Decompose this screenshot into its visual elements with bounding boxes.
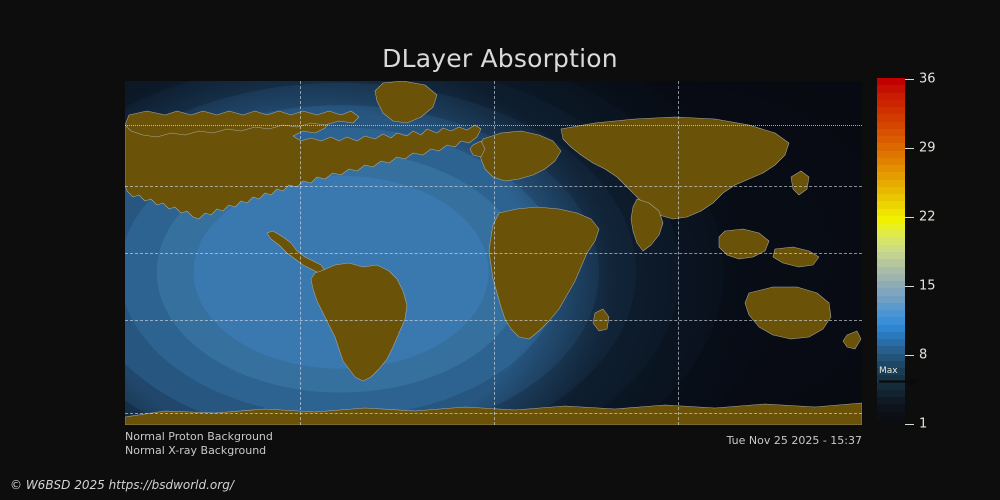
colorbar-segment — [877, 245, 905, 252]
colorbar-segment — [877, 361, 905, 368]
figure-root: DLayer Absorption — [0, 0, 1000, 500]
colorbar-segment — [877, 100, 905, 107]
colorbar-gradient — [877, 78, 905, 426]
colorbar-segment — [877, 201, 905, 208]
colorbar-segment — [877, 332, 905, 339]
page-title: DLayer Absorption — [0, 44, 1000, 73]
colorbar[interactable]: Max — [877, 78, 905, 426]
copyright-footer: © W6BSD 2025 https://bsdworld.org/ — [10, 478, 234, 492]
colorbar-segment — [877, 165, 905, 172]
colorbar-segment — [877, 267, 905, 274]
arctic-circle-line — [125, 125, 862, 126]
colorbar-segment — [877, 412, 905, 419]
colorbar-segment — [877, 209, 905, 216]
colorbar-segment — [877, 259, 905, 266]
colorbar-segment — [877, 354, 905, 361]
colorbar-segment — [877, 85, 905, 92]
colorbar-segment — [877, 281, 905, 288]
parallel-line — [125, 320, 862, 321]
colorbar-segment — [877, 325, 905, 332]
world-map[interactable] — [125, 81, 862, 425]
colorbar-segment — [877, 419, 905, 426]
colorbar-segment — [877, 296, 905, 303]
note-xray-background: Normal X-ray Background — [125, 444, 266, 457]
colorbar-axis-label: Affected Frequency (MHz) — [905, 78, 1000, 426]
colorbar-segment — [877, 194, 905, 201]
colorbar-segment — [877, 223, 905, 230]
colorbar-segment — [877, 368, 905, 375]
colorbar-segment — [877, 180, 905, 187]
colorbar-segment — [877, 129, 905, 136]
timestamp: Tue Nov 25 2025 - 15:37 — [727, 434, 862, 447]
parallel-line — [125, 413, 862, 414]
colorbar-segment — [877, 274, 905, 281]
colorbar-segment — [877, 397, 905, 404]
colorbar-segment — [877, 317, 905, 324]
colorbar-segment — [877, 136, 905, 143]
colorbar-segment — [877, 78, 905, 85]
colorbar-segment — [877, 230, 905, 237]
colorbar-segment — [877, 404, 905, 411]
note-proton-background: Normal Proton Background — [125, 430, 273, 443]
parallel-line — [125, 186, 862, 187]
colorbar-segment — [877, 390, 905, 397]
colorbar-segment — [877, 93, 905, 100]
colorbar-segment — [877, 310, 905, 317]
colorbar-segment — [877, 172, 905, 179]
colorbar-segment — [877, 143, 905, 150]
colorbar-segment — [877, 122, 905, 129]
colorbar-segment — [877, 216, 905, 223]
colorbar-segment — [877, 187, 905, 194]
colorbar-segment — [877, 158, 905, 165]
colorbar-segment — [877, 151, 905, 158]
colorbar-segment — [877, 288, 905, 295]
parallel-line — [125, 253, 862, 254]
colorbar-segment — [877, 375, 905, 382]
colorbar-segment — [877, 252, 905, 259]
colorbar-segment — [877, 238, 905, 245]
colorbar-segment — [877, 107, 905, 114]
graticule-layer — [125, 81, 862, 425]
colorbar-segment — [877, 339, 905, 346]
colorbar-segment — [877, 346, 905, 353]
colorbar-segment — [877, 303, 905, 310]
colorbar-segment — [877, 114, 905, 121]
colorbar-segment — [877, 383, 905, 390]
